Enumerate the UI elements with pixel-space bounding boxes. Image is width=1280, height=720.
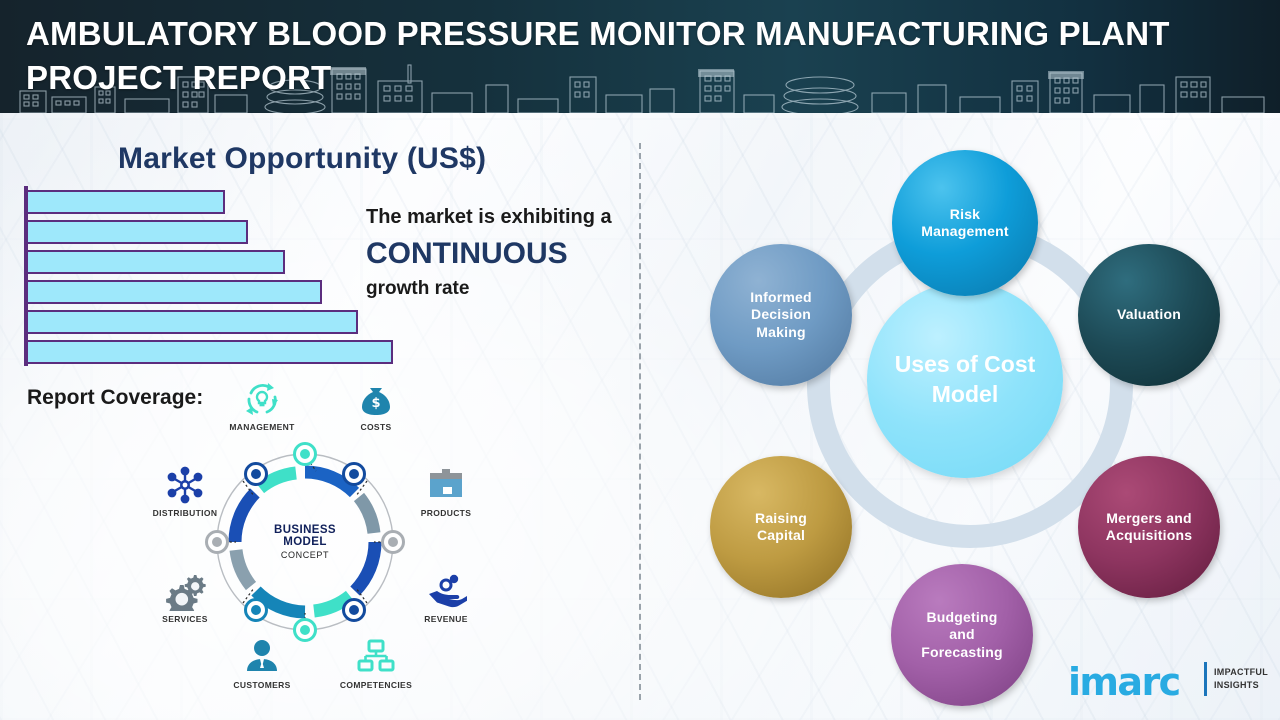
uses-of-cost-model-diagram: Uses of Cost Model Risk Management Valua… [660, 125, 1280, 720]
bm-title-line1: BUSINESS [274, 524, 336, 537]
coverage-item-management: MANAGEMENT [224, 378, 300, 432]
coverage-label: REVENUE [408, 614, 484, 624]
market-opportunity-bar-chart [24, 186, 416, 366]
org-chart-icon [338, 636, 414, 678]
node-label-line: Management [915, 223, 1015, 240]
logo-tagline-line1: IMPACTFUL [1214, 666, 1268, 679]
logo-tagline-line2: INSIGHTS [1214, 679, 1268, 692]
business-model-center: BUSINESS MODEL CONCEPT [243, 480, 367, 604]
node-label-line: Valuation [1111, 306, 1187, 323]
bar-row [28, 250, 285, 274]
node-label-line: Risk [915, 206, 1015, 223]
business-model-diagram: BUSINESS MODEL CONCEPT [140, 375, 470, 705]
growth-callout: The market is exhibiting a CONTINUOUS gr… [366, 205, 634, 301]
box-package-icon [408, 464, 484, 506]
coverage-item-revenue: REVENUE [408, 570, 484, 624]
coverage-item-customers: CUSTOMERS [224, 636, 300, 690]
imarc-logo: imarc IMPACTFUL INSIGHTS [1068, 658, 1268, 702]
coverage-item-costs: $ COSTS [338, 378, 414, 432]
page-title: Ambulatory Blood Pressure Monitor Manufa… [26, 12, 1256, 100]
coverage-item-competencies: COMPETENCIES [338, 636, 414, 690]
coverage-label: COMPETENCIES [338, 680, 414, 690]
logo-divider-bar [1204, 662, 1207, 696]
hand-coins-icon [408, 570, 484, 612]
node-label-line: Raising [749, 510, 813, 527]
node-budgeting-and-forecasting[interactable]: Budgeting and Forecasting [891, 564, 1033, 706]
callout-line-3: growth rate [366, 277, 634, 301]
svg-text:$: $ [371, 396, 380, 411]
network-nodes-icon [147, 464, 223, 506]
node-label-line: Acquisitions [1100, 527, 1198, 544]
node-raising-capital[interactable]: Raising Capital [710, 456, 852, 598]
center-uses-of-cost-model: Uses of Cost Model [867, 282, 1063, 478]
coverage-item-distribution: DISTRIBUTION [147, 464, 223, 518]
node-label-line: Forecasting [915, 644, 1009, 661]
center-line-1: Uses of [895, 351, 978, 377]
node-risk-management[interactable]: Risk Management [892, 150, 1038, 296]
node-valuation[interactable]: Valuation [1078, 244, 1220, 386]
coverage-label: DISTRIBUTION [147, 508, 223, 518]
bar-row [28, 340, 393, 364]
bar-row [28, 310, 358, 334]
vertical-divider [639, 143, 641, 700]
slide-root: Ambulatory Blood Pressure Monitor Manufa… [0, 0, 1280, 720]
logo-tagline: IMPACTFUL INSIGHTS [1214, 666, 1268, 692]
coverage-label: COSTS [338, 422, 414, 432]
coverage-label: CUSTOMERS [224, 680, 300, 690]
node-label-line: and [915, 626, 1009, 643]
coverage-item-products: PRODUCTS [408, 464, 484, 518]
gears-icon [147, 570, 223, 612]
market-opportunity-title: Market Opportunity (US$) [118, 142, 486, 176]
callout-line-1: The market is exhibiting a [366, 205, 634, 230]
coverage-item-services: SERVICES [147, 570, 223, 624]
bar-row [28, 220, 248, 244]
header-banner: Ambulatory Blood Pressure Monitor Manufa… [0, 0, 1280, 113]
node-label-line: Decision [744, 306, 818, 323]
node-label-line: Budgeting [915, 609, 1009, 626]
user-person-icon [224, 636, 300, 678]
coverage-label: SERVICES [147, 614, 223, 624]
node-label-line: Capital [749, 527, 813, 544]
node-label-line: Mergers and [1100, 510, 1198, 527]
coverage-label: MANAGEMENT [224, 422, 300, 432]
money-bag-icon: $ [338, 378, 414, 420]
bar-row [28, 280, 322, 304]
node-informed-decision-making[interactable]: Informed Decision Making [710, 244, 852, 386]
bm-title-line2: MODEL [283, 536, 327, 549]
node-label-line: Making [744, 324, 818, 341]
node-mergers-and-acquisitions[interactable]: Mergers and Acquisitions [1078, 456, 1220, 598]
business-model-center-label: BUSINESS MODEL CONCEPT [243, 480, 367, 604]
node-label-line: Informed [744, 289, 818, 306]
recycle-lightbulb-icon [224, 378, 300, 420]
callout-line-2: CONTINUOUS [366, 234, 634, 273]
coverage-label: PRODUCTS [408, 508, 484, 518]
logo-wordmark: imarc [1068, 660, 1180, 704]
bar-row [28, 190, 225, 214]
bm-subtitle: CONCEPT [281, 550, 329, 560]
